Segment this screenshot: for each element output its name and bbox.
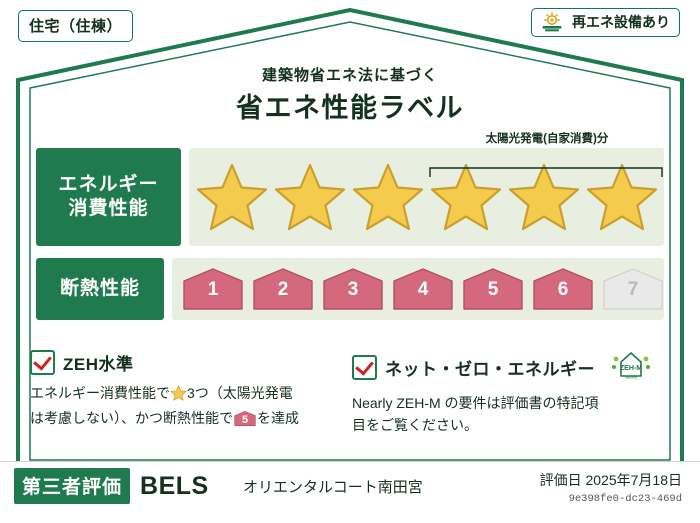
sun-icon [539,12,565,32]
grade-7-number: 7 [602,279,664,301]
energy-label-line2: 消費性能 [68,197,148,221]
renewable-energy-label: 再エネ設備あり [572,12,670,32]
svg-text:Nearly: Nearly [625,375,638,380]
zeh-desc-star-text: 3つ（太陽光発電 [187,385,293,401]
property-name: オリエンタルコート南田宮 [243,476,423,497]
grade-3: 3 [322,267,384,311]
grade-5-number: 5 [462,279,524,301]
third-party-badge: 第三者評価 [14,468,130,504]
zeh-desc-line2: は考慮しない）、かつ断熱性能で [30,410,233,426]
insulation-performance-row: 断熱性能 1 2 3 4 [36,258,664,320]
check-icon [352,355,377,380]
grade-6-number: 6 [532,279,594,301]
star-3 [349,162,427,232]
grade-3-number: 3 [322,279,384,301]
svg-text:ZEH-M: ZEH-M [620,365,642,372]
grade-7: 7 [602,267,664,311]
grade-6: 6 [532,267,594,311]
energy-performance-label: 住宅（住棟） 再エネ設備あり 建築物省エネ法に基づく 省エネ性能ラベル [0,0,700,522]
star-2 [271,162,349,232]
grade-4-number: 4 [392,279,454,301]
pv-note-label: 太陽光発電(自家消費)分 [425,130,669,146]
inline-grade-icon: 5 [234,410,256,427]
third-party-evaluation: 第三者評価 BELS [14,468,209,504]
pv-bracket [428,162,664,178]
net-zero-check-title: ネット・ゼロ・エネルギー [385,355,595,380]
zeh-desc-line1: エネルギー消費性能で [30,385,170,401]
net-zero-check-block: ネット・ゼロ・エネルギー ZEH-M Nearly Nearly ZEH-M の… [352,350,670,436]
subtitle: 建築物省エネ法に基づく [0,64,700,85]
insulation-label-text: 断熱性能 [60,277,140,301]
energy-performance-panel: 太陽光発電(自家消費)分 [189,148,664,246]
evaluation-date: 評価日 2025年7月18日 [540,470,682,490]
net-zero-desc-line1: Nearly ZEH-M の要件は評価書の特記項 [352,395,599,411]
grade-1-number: 1 [182,279,244,301]
zeh-check-block: ZEH水準 エネルギー消費性能で3つ（太陽光発電 は考慮しない）、かつ断熱性能で… [30,350,330,429]
zeh-check-description: エネルギー消費性能で3つ（太陽光発電 は考慮しない）、かつ断熱性能で5を達成 [30,383,330,429]
net-zero-check-head: ネット・ゼロ・エネルギー ZEH-M Nearly [352,350,670,385]
inline-grade-number: 5 [234,412,256,429]
energy-performance-label-box: エネルギー 消費性能 [36,148,181,246]
grade-1: 1 [182,267,244,311]
energy-performance-row: エネルギー 消費性能 太陽光発電(自家消費)分 [36,148,664,246]
zeh-desc-line3: を達成 [257,410,299,426]
insulation-panel: 1 2 3 4 5 [172,258,664,320]
evaluation-date-block: 評価日 2025年7月18日 9e398fe0-dc23-469d [540,470,682,505]
grade-2: 2 [252,267,314,311]
grade-5: 5 [462,267,524,311]
bels-logo: BELS [140,472,209,501]
net-zero-desc-line2: 目をご覧ください。 [352,417,478,433]
net-zero-check-description: Nearly ZEH-M の要件は評価書の特記項 目をご覧ください。 [352,393,670,436]
grade-4: 4 [392,267,454,311]
zeh-check-head: ZEH水準 [30,350,330,375]
nearly-zeh-m-icon: ZEH-M Nearly [609,350,653,385]
evaluation-id: 9e398fe0-dc23-469d [540,493,682,505]
energy-label-line1: エネルギー [58,173,158,197]
check-icon [30,350,55,375]
zeh-check-title: ZEH水準 [63,350,134,375]
insulation-label-box: 断熱性能 [36,258,164,320]
building-type-badge: 住宅（住棟） [18,10,133,42]
inline-star-icon [170,385,187,408]
grade-2-number: 2 [252,279,314,301]
star-1 [193,162,271,232]
page-title: 省エネ性能ラベル [0,86,700,125]
renewable-energy-badge: 再エネ設備あり [531,8,680,37]
grade-scale: 1 2 3 4 5 [172,258,664,320]
